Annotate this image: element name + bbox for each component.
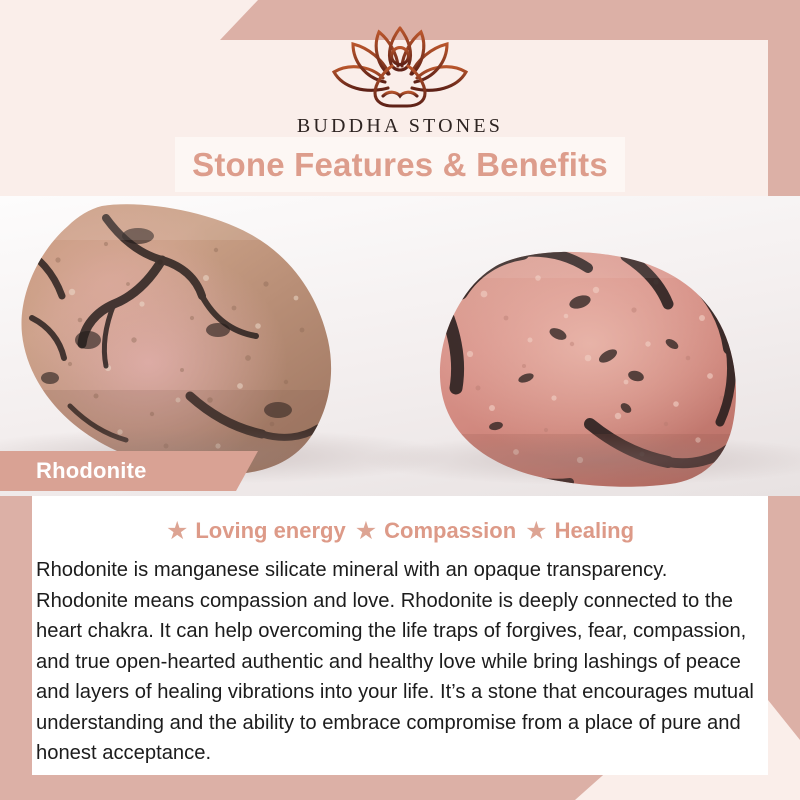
title-banner: Stone Features & Benefits xyxy=(175,137,625,192)
keyword-item: ★ Loving energy xyxy=(166,518,346,544)
stone-name-label: Rhodonite xyxy=(0,458,147,484)
brand-wordmark: BUDDHA STONES xyxy=(0,115,800,138)
stone-description: Rhodonite is manganese silicate mineral … xyxy=(32,544,768,769)
brand-logo: BUDDHA STONES xyxy=(0,22,800,138)
keyword-item: ★ Healing xyxy=(525,518,634,544)
keyword-item: ★ Compassion xyxy=(355,518,516,544)
star-icon: ★ xyxy=(355,519,377,544)
keyword-label: Healing xyxy=(555,518,634,544)
page-title: Stone Features & Benefits xyxy=(192,146,608,184)
keyword-label: Loving energy xyxy=(195,518,345,544)
content-panel: ★ Loving energy ★ Compassion ★ Healing R… xyxy=(32,496,768,775)
star-icon: ★ xyxy=(166,519,188,544)
keyword-list: ★ Loving energy ★ Compassion ★ Healing xyxy=(32,496,768,544)
keyword-label: Compassion xyxy=(384,518,516,544)
stone-name-badge: Rhodonite xyxy=(0,451,258,491)
lotus-meditation-icon xyxy=(325,22,475,110)
star-icon: ★ xyxy=(525,519,547,544)
